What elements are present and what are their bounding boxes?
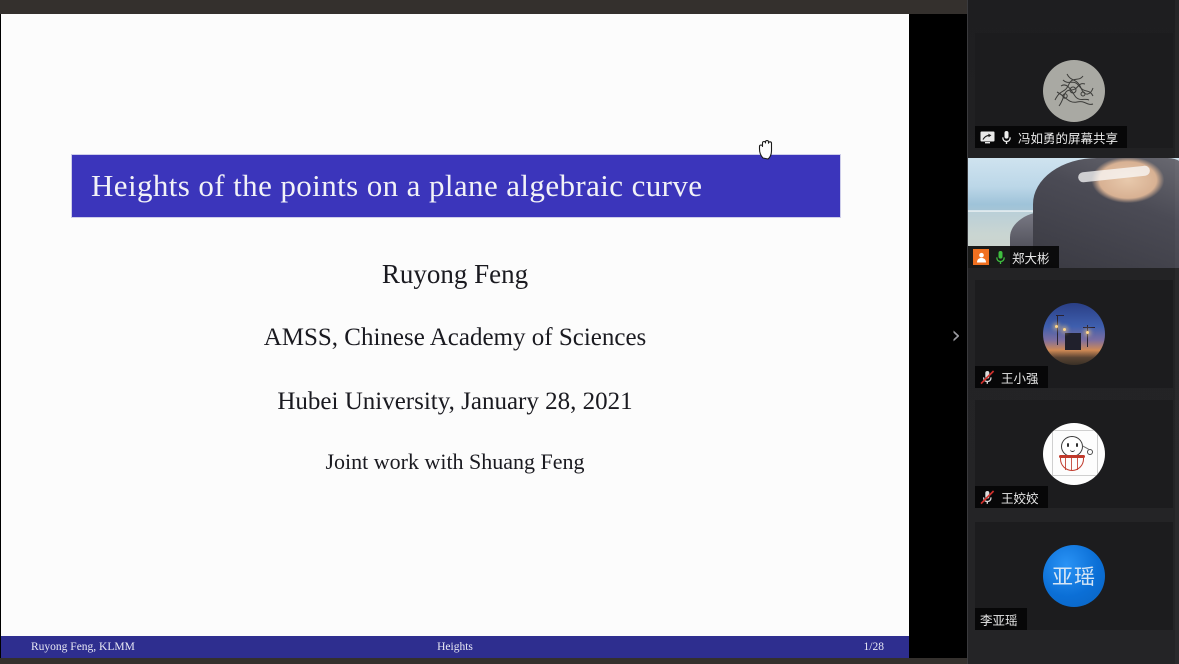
slide-body: Ruyong Feng AMSS, Chinese Academy of Sci…	[1, 259, 909, 475]
window-top-chrome	[0, 0, 967, 14]
video-tile-participant-3[interactable]: 王小强	[975, 280, 1173, 388]
video-sidebar[interactable]: 冯如勇的屏幕共享	[967, 0, 1179, 664]
tile-namebar: 李亚瑶	[975, 608, 1027, 630]
window-bottom-chrome	[0, 658, 967, 664]
slide-affiliation: AMSS, Chinese Academy of Sciences	[1, 324, 909, 352]
microphone-muted-icon	[980, 370, 995, 385]
chevron-right-icon[interactable]: ›	[944, 320, 968, 350]
participant-name: 冯如勇的屏幕共享	[1018, 128, 1118, 147]
person-icon	[976, 252, 987, 263]
video-tile-screen-share[interactable]: 冯如勇的屏幕共享	[975, 33, 1173, 148]
slide-title: Heights of the points on a plane algebra…	[72, 168, 702, 204]
footer-title: Heights	[1, 641, 909, 653]
slide-footer: Ruyong Feng, KLMM Heights 1/28	[1, 636, 909, 658]
host-badge	[973, 249, 989, 265]
participant-name: 李亚瑶	[980, 610, 1018, 629]
slide-title-banner: Heights of the points on a plane algebra…	[72, 155, 840, 217]
microphone-muted-icon	[980, 490, 995, 505]
video-tile-participant-5[interactable]: 亚瑶 李亚瑶	[975, 522, 1173, 630]
tile-namebar: 王小强	[975, 366, 1048, 388]
participant-name: 郑大彬	[1012, 248, 1050, 267]
microphone-icon	[995, 250, 1006, 265]
slide-author: Ruyong Feng	[1, 259, 909, 290]
screen-root: Heights of the points on a plane algebra…	[0, 0, 1179, 664]
screen-share-icon	[980, 131, 995, 144]
tile-namebar: 郑大彬	[968, 246, 1059, 268]
sidebar-scrollbar[interactable]	[1175, 0, 1179, 664]
slide-joint-work: Joint work with Shuang Feng	[1, 449, 909, 475]
video-tile-active-speaker[interactable]: 郑大彬	[968, 158, 1179, 268]
video-tile-participant-4[interactable]: 王姣姣	[975, 400, 1173, 508]
avatar-initials: 亚瑶	[1052, 561, 1096, 591]
sketch-artwork-icon	[1043, 60, 1105, 122]
participant-name: 王小强	[1001, 368, 1039, 387]
presentation-slide[interactable]: Heights of the points on a plane algebra…	[1, 14, 909, 658]
slide-venue-date: Hubei University, January 28, 2021	[1, 388, 909, 416]
tile-namebar: 王姣姣	[975, 486, 1048, 508]
participant-name: 王姣姣	[1001, 488, 1039, 507]
shared-screen-region[interactable]: Heights of the points on a plane algebra…	[0, 14, 967, 658]
microphone-icon	[1001, 130, 1012, 145]
tile-namebar: 冯如勇的屏幕共享	[975, 126, 1127, 148]
avatar	[1043, 60, 1105, 122]
avatar: 亚瑶	[1043, 545, 1105, 607]
avatar	[1043, 303, 1105, 365]
avatar	[1043, 423, 1105, 485]
footer-page-number: 1/28	[864, 641, 884, 653]
